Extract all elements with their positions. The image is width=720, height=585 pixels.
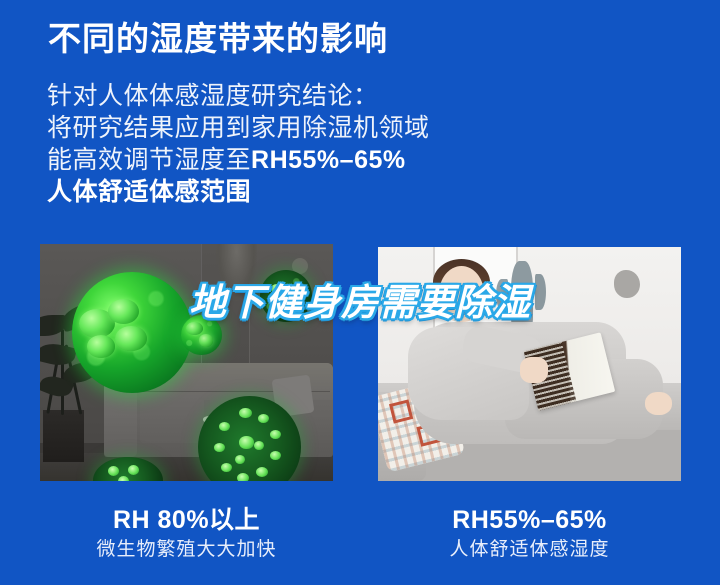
left-plant-pot (43, 410, 84, 462)
microbe-blob-2 (199, 334, 214, 346)
virus-spike-7 (221, 463, 232, 472)
intro-line-4: 人体舒适体感范围 (47, 176, 430, 208)
virus-spike-5 (256, 467, 268, 477)
intro-line-2: 将研究结果应用到家用除湿机领域 (47, 112, 430, 144)
virus-spike-10 (254, 441, 264, 450)
overlay-headline: 地下健身房需要除湿 (0, 272, 720, 326)
intro-line-3-highlight: RH55%–65% (251, 146, 406, 174)
virus-spike-3 (270, 430, 281, 439)
virus-spike-9 (219, 422, 230, 431)
virus-spike-1 (239, 408, 251, 418)
left-sofa-cushion-1 (140, 396, 204, 443)
intro-line-3: 能高效调节湿度至RH55%–65% (47, 144, 430, 176)
virus-spike-11 (235, 455, 245, 464)
intro-line-1: 针对人体体感湿度研究结论： (47, 80, 430, 112)
virus-spike-4 (270, 451, 281, 460)
caption-left-description: 微生物繁殖大大加快 (40, 537, 333, 563)
virus-spike-2 (128, 465, 139, 475)
poster-root: 不同的湿度带来的影响 针对人体体感湿度研究结论： 将研究结果应用到家用除湿机领域… (0, 0, 720, 585)
virus-spike-6 (237, 473, 249, 481)
page-title: 不同的湿度带来的影响 (48, 19, 388, 59)
caption-right-value: RH55%–65% (378, 505, 681, 535)
right-person-hand (520, 357, 547, 383)
caption-right: RH55%–65% 人体舒适体感湿度 (378, 505, 681, 563)
right-person-foot (645, 392, 672, 415)
caption-left-value: RH 80%以上 (40, 505, 333, 535)
intro-paragraph: 针对人体体感湿度研究结论： 将研究结果应用到家用除湿机领域 能高效调节湿度至RH… (47, 80, 430, 208)
virus-spike-2 (258, 414, 269, 423)
caption-left: RH 80%以上 微生物繁殖大大加快 (40, 505, 333, 563)
caption-right-description: 人体舒适体感湿度 (378, 537, 681, 563)
intro-line-3-prefix: 能高效调节湿度至 (47, 146, 251, 174)
virus-spike-8 (214, 443, 225, 452)
virus-spike-3 (118, 476, 129, 481)
virus-core (239, 436, 253, 448)
virus-spike-1 (108, 466, 119, 476)
microbe-blob-3 (115, 326, 146, 351)
